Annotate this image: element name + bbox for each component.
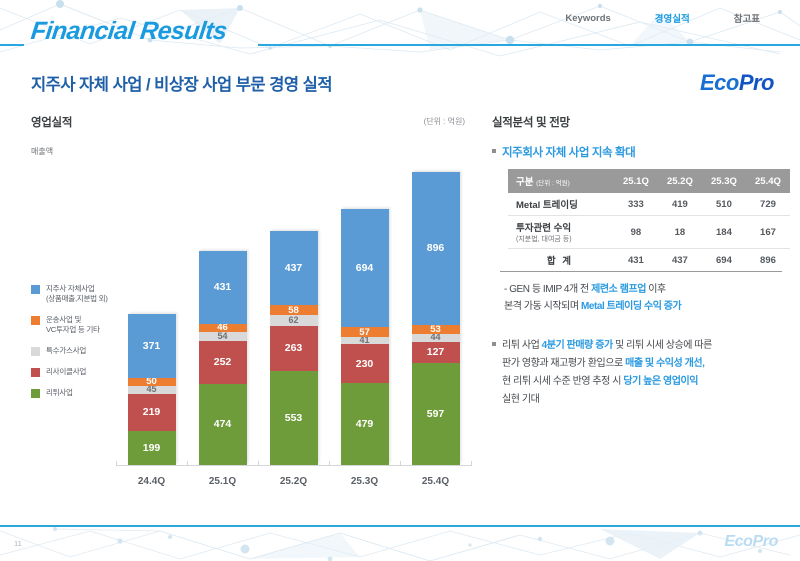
kpi-row-1-val-2: 184 [702,216,746,249]
axis-tick [187,461,188,466]
bar-value-label: 230 [356,359,374,370]
nav-item-reference-table[interactable]: 참고표 [712,9,782,27]
bar-25.4Q: 5971274453896 [412,172,460,465]
footer-logo-eco: Eco [724,533,752,550]
kpi-header-row: 구분 (단위 : 억원) 25.1Q 25.2Q 25.3Q 25.4Q [508,169,790,193]
kpi-header-label-text: 구분 [516,177,533,188]
bullet-lithium-outlook: 리튀 사업 4분기 판매량 증가 및 리튀 시세 상승에 따른 판가 영향과 재… [492,337,782,408]
axis-tick [258,461,259,466]
bullet2-line1-a: 리튀 사업 [502,340,542,351]
axis-tick [329,461,330,466]
bar-segment-recycle: 252 [199,341,247,384]
legend-label-lithium: 리튀사업 [46,388,73,398]
stacked-bar-chart: 지주사 자체사업 (상품매출,지분법 외) 운송사업 및 VC투자업 등 기타 [31,166,471,496]
legend-swatch-gas-icon [31,347,40,356]
legend-swatch-lithium-icon [31,389,40,398]
kpi-row-1-label: 투자관련 수익(지분법, 대여금 등) [508,216,614,249]
legend-label-recycle: 리사이클사업 [46,367,86,377]
bar-value-label: 50 [146,378,157,387]
footer-logo-pro: Pro [753,533,778,550]
kpi-total-val-0: 431 [614,249,658,272]
bullet-square-icon [492,342,496,346]
x-axis-label-25.1Q: 25.1Q [183,476,263,487]
nav-item-management-results[interactable]: 경영실적 [633,9,712,27]
bar-segment-trans: 46 [199,324,247,332]
bullet2-line3-a: 현 리튀 시세 수준 반영 추정 시 [502,376,623,387]
kpi-row-0-label: Metal 트레이딩 [508,193,614,216]
chart-panel: 영업실적 (단위 : 억원) 매출액 지주사 자체사업 (상품매출,지분법 외) [31,114,471,514]
bullet2-line2-a: 판가 영향과 재고평가 환입으로 [502,358,625,369]
legend-swatch-holding-icon [31,285,40,294]
axis-tick [400,461,401,466]
legend-item-holding: 지주사 자체사업 (상품매출,지분법 외) [31,284,121,304]
bar-segment-recycle: 230 [341,344,389,383]
logo-eco: Eco [700,70,739,95]
bar-25.2Q: 5532636258437 [270,231,318,465]
bar-segment-gas: 45 [128,386,176,394]
bar-segment-lithium: 597 [412,363,460,465]
axis-tick [116,461,117,466]
x-axis-label-25.2Q: 25.2Q [254,476,334,487]
sub-note-line2-highlight: Metal 트레이딩 수익 증가 [581,301,681,312]
kpi-header-col-0: 25.1Q [614,169,658,193]
bar-24.4Q: 1992194550371 [128,314,176,465]
legend-swatch-recycle-icon [31,368,40,377]
kpi-table-wrap: 구분 (단위 : 억원) 25.1Q 25.2Q 25.3Q 25.4Q Met… [500,169,782,272]
network-decoration-bottom [0,525,800,561]
logo-pro: Pro [739,70,774,95]
chart-plot-area: 1992194550371474252544643155326362584374… [116,166,471,466]
bar-value-label: 62 [288,316,298,325]
bar-segment-trans: 50 [128,378,176,387]
bar-value-label: 263 [285,343,303,354]
title-rule-right [258,44,800,46]
legend-label-holding-line2: (상품매출,지분법 외) [46,294,108,303]
bar-segment-recycle: 219 [128,394,176,431]
bullet-holding-expansion-text: 지주회사 자체 사업 지속 확대 [502,144,635,160]
kpi-header-col-2: 25.3Q [702,169,746,193]
sub-note-line2-a: 본격 가동 시작되며 [504,301,581,312]
chart-baseline [116,465,471,466]
chart-section-title: 영업실적 [31,114,471,130]
bar-value-label: 45 [146,386,156,394]
bar-value-label: 371 [143,341,161,352]
kpi-row-1-label-main: 투자관련 수익 [516,223,571,234]
kpi-row-1-val-3: 167 [746,216,790,249]
bar-value-label: 252 [214,357,232,368]
kpi-row-0-val-0: 333 [614,193,658,216]
slide-body: 지주사 자체 사업 / 비상장 사업 부문 경영 실적 EcoPro 영업실적 … [0,58,800,526]
kpi-row-1-val-0: 98 [614,216,658,249]
bar-value-label: 58 [288,306,299,316]
sub-note-line1-highlight: 제련소 램프업 [591,284,646,295]
bar-segment-holding: 896 [412,172,460,325]
kpi-row-0-val-2: 510 [702,193,746,216]
bar-value-label: 199 [143,443,161,454]
deck-title: Financial Results [29,17,228,46]
bar-segment-lithium: 474 [199,384,247,465]
bar-value-label: 41 [359,337,369,344]
kpi-total-val-3: 896 [746,249,790,272]
bar-value-label: 474 [214,419,232,430]
legend-label-transport-line2: VC투자업 등 기타 [46,325,100,334]
legend-item-lithium: 리튀사업 [31,388,121,398]
bar-segment-trans: 58 [270,305,318,315]
bar-value-label: 694 [356,263,374,274]
bar-value-label: 896 [427,243,445,254]
bullet2-line4: 실현 기대 [502,394,539,405]
footer-rule [0,525,800,527]
kpi-header-label: 구분 (단위 : 억원) [508,169,614,193]
bar-value-label: 44 [430,334,440,342]
bar-segment-trans: 53 [412,325,460,334]
bullet-square-icon [492,149,496,153]
bar-value-label: 437 [285,263,303,274]
kpi-table-body: Metal 트레이딩 333 419 510 729 투자관련 수익(지분법, … [508,193,790,271]
analysis-section-title: 실적분석 및 전망 [492,114,782,130]
bar-segment-holding: 431 [199,251,247,324]
table-row-total: 합 계 431 437 694 896 [508,249,790,272]
chart-axis-label: 매출액 [31,146,53,157]
bar-segment-gas: 41 [341,337,389,344]
x-axis-label-24.4Q: 24.4Q [112,476,192,487]
bar-segment-holding: 437 [270,231,318,305]
legend-item-gas: 특수가스사업 [31,346,121,356]
bar-segment-trans: 57 [341,327,389,337]
sub-note-line1-c: 이후 [646,284,666,295]
bar-value-label: 57 [359,328,370,338]
kpi-total-label: 합 계 [508,249,614,272]
bullet2-line1-c: 및 리튀 시세 상승에 따른 [613,340,712,351]
bar-segment-lithium: 553 [270,371,318,465]
page-title: 지주사 자체 사업 / 비상장 사업 부문 경영 실적 [31,71,332,95]
chart-legend: 지주사 자체사업 (상품매출,지분법 외) 운송사업 및 VC투자업 등 기타 [31,284,121,409]
ecopro-logo: EcoPro [700,70,774,96]
bar-value-label: 597 [427,409,445,420]
bullet-lithium-outlook-text: 리튀 사업 4분기 판매량 증가 및 리튀 시세 상승에 따른 판가 영향과 재… [502,337,712,408]
bar-value-label: 553 [285,413,303,424]
bar-segment-recycle: 127 [412,342,460,364]
bullet2-line3-highlight: 당기 높은 영업이익 [623,376,698,387]
legend-swatch-transport-icon [31,316,40,325]
kpi-total-val-2: 694 [702,249,746,272]
slide-header: Financial Results Keywords 경영실적 참고표 [0,0,800,58]
bar-segment-gas: 62 [270,315,318,326]
bar-value-label: 53 [430,325,441,334]
bar-segment-lithium: 199 [128,431,176,465]
slide-footer: 11 EcoPro [0,525,800,561]
x-axis-label-25.3Q: 25.3Q [325,476,405,487]
kpi-table-head: 구분 (단위 : 억원) 25.1Q 25.2Q 25.3Q 25.4Q [508,169,790,193]
bar-segment-holding: 694 [341,209,389,327]
bar-25.1Q: 4742525446431 [199,251,247,465]
bar-value-label: 431 [214,282,232,293]
slide-root: Financial Results Keywords 경영실적 참고표 지주사 … [0,0,800,561]
bar-25.3Q: 4792304157694 [341,209,389,465]
legend-label-holding: 지주사 자체사업 (상품매출,지분법 외) [46,284,108,304]
bar-segment-lithium: 479 [341,383,389,465]
kpi-row-1-val-1: 18 [658,216,702,249]
title-rule-left [0,44,24,46]
kpi-row-1-label-sub: (지분법, 대여금 등) [516,234,612,244]
bar-segment-holding: 371 [128,314,176,377]
sub-note-imip: - GEN 등 IMIP 4개 전 제련소 램프업 이후 본격 가동 시작되며 … [504,281,782,315]
kpi-row-0-val-1: 419 [658,193,702,216]
bar-segment-gas: 44 [412,334,460,342]
kpi-header-unit: (단위 : 억원) [536,180,570,187]
legend-label-gas: 특수가스사업 [46,346,86,356]
legend-item-recycle: 리사이클사업 [31,367,121,377]
kpi-total-val-1: 437 [658,249,702,272]
bar-segment-gas: 54 [199,332,247,341]
axis-tick [471,461,472,466]
kpi-row-0-val-3: 729 [746,193,790,216]
bar-value-label: 479 [356,419,374,430]
kpi-header-col-3: 25.4Q [746,169,790,193]
legend-label-holding-line1: 지주사 자체사업 [46,284,95,293]
bar-value-label: 46 [217,324,228,332]
nav-item-keywords[interactable]: Keywords [543,11,632,26]
bar-value-label: 219 [143,407,161,418]
chart-unit-note: (단위 : 억원) [424,116,465,127]
legend-label-transport-line1: 운송사업 및 [46,315,81,324]
analysis-panel: 실적분석 및 전망 지주회사 자체 사업 지속 확대 구분 (단위 : 억원) … [492,114,782,409]
sub-note-line1-a: - GEN 등 IMIP 4개 전 [504,284,591,295]
bar-segment-recycle: 263 [270,326,318,371]
page-number: 11 [14,539,22,548]
bullet2-line2-highlight: 매출 및 수익성 개선, [625,358,704,369]
table-row: 투자관련 수익(지분법, 대여금 등) 98 18 184 167 [508,216,790,249]
footer-ecopro-logo: EcoPro [724,533,778,551]
kpi-table: 구분 (단위 : 억원) 25.1Q 25.2Q 25.3Q 25.4Q Met… [508,169,790,271]
bullet-holding-expansion: 지주회사 자체 사업 지속 확대 [492,144,782,160]
kpi-header-col-1: 25.2Q [658,169,702,193]
table-row: Metal 트레이딩 333 419 510 729 [508,193,790,216]
x-axis-label-25.4Q: 25.4Q [396,476,476,487]
bar-value-label: 54 [217,332,227,341]
top-navigation[interactable]: Keywords 경영실적 참고표 [543,9,782,27]
bar-value-label: 127 [427,347,445,358]
bullet2-line1-highlight: 4분기 판매량 증가 [542,340,613,351]
legend-label-transport: 운송사업 및 VC투자업 등 기타 [46,315,100,335]
legend-item-transport: 운송사업 및 VC투자업 등 기타 [31,315,121,335]
